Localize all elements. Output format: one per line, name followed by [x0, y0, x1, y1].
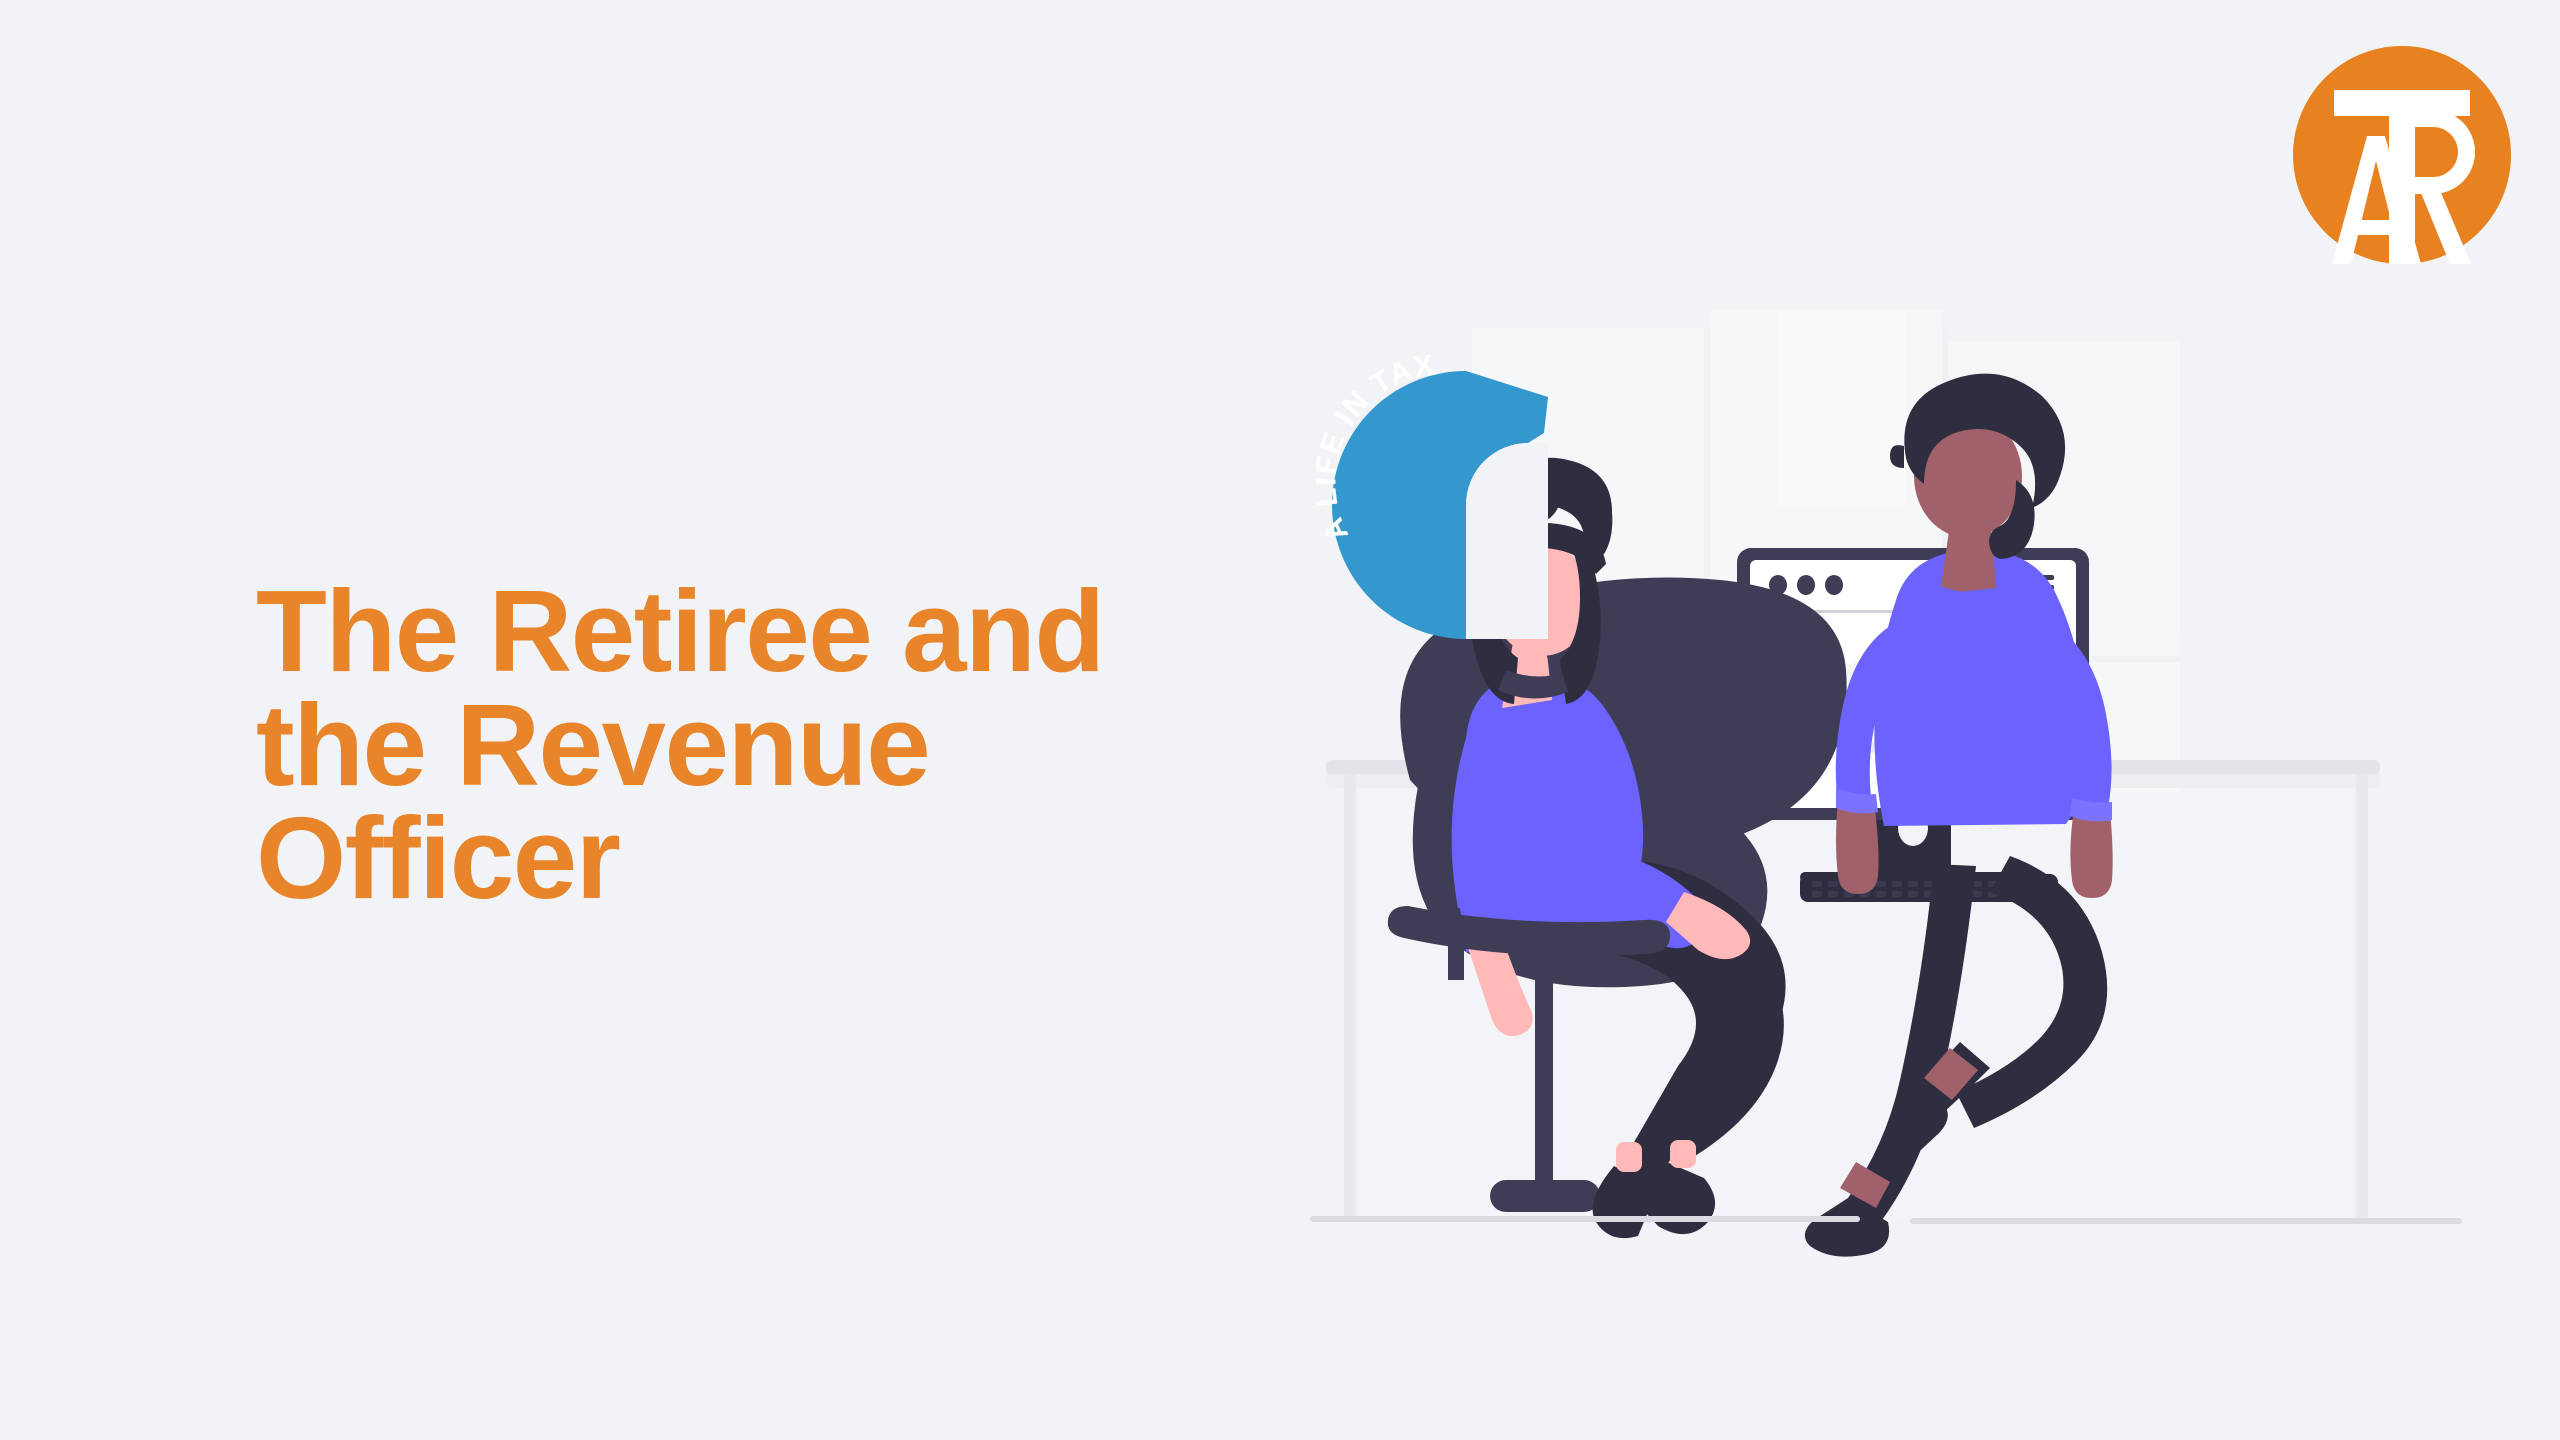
page-title: The Retiree and the Revenue Officer — [256, 575, 1356, 916]
window-dot-2 — [1797, 575, 1815, 595]
badge-inner-cut — [1466, 443, 1548, 639]
a-life-in-tax-badge[interactable]: A LIFE IN TAX — [1316, 355, 1616, 655]
window-dot-3 — [1825, 575, 1843, 595]
hero-banner: The Retiree and the Revenue Officer — [0, 0, 2560, 1440]
tar-logo[interactable] — [2293, 46, 2511, 264]
